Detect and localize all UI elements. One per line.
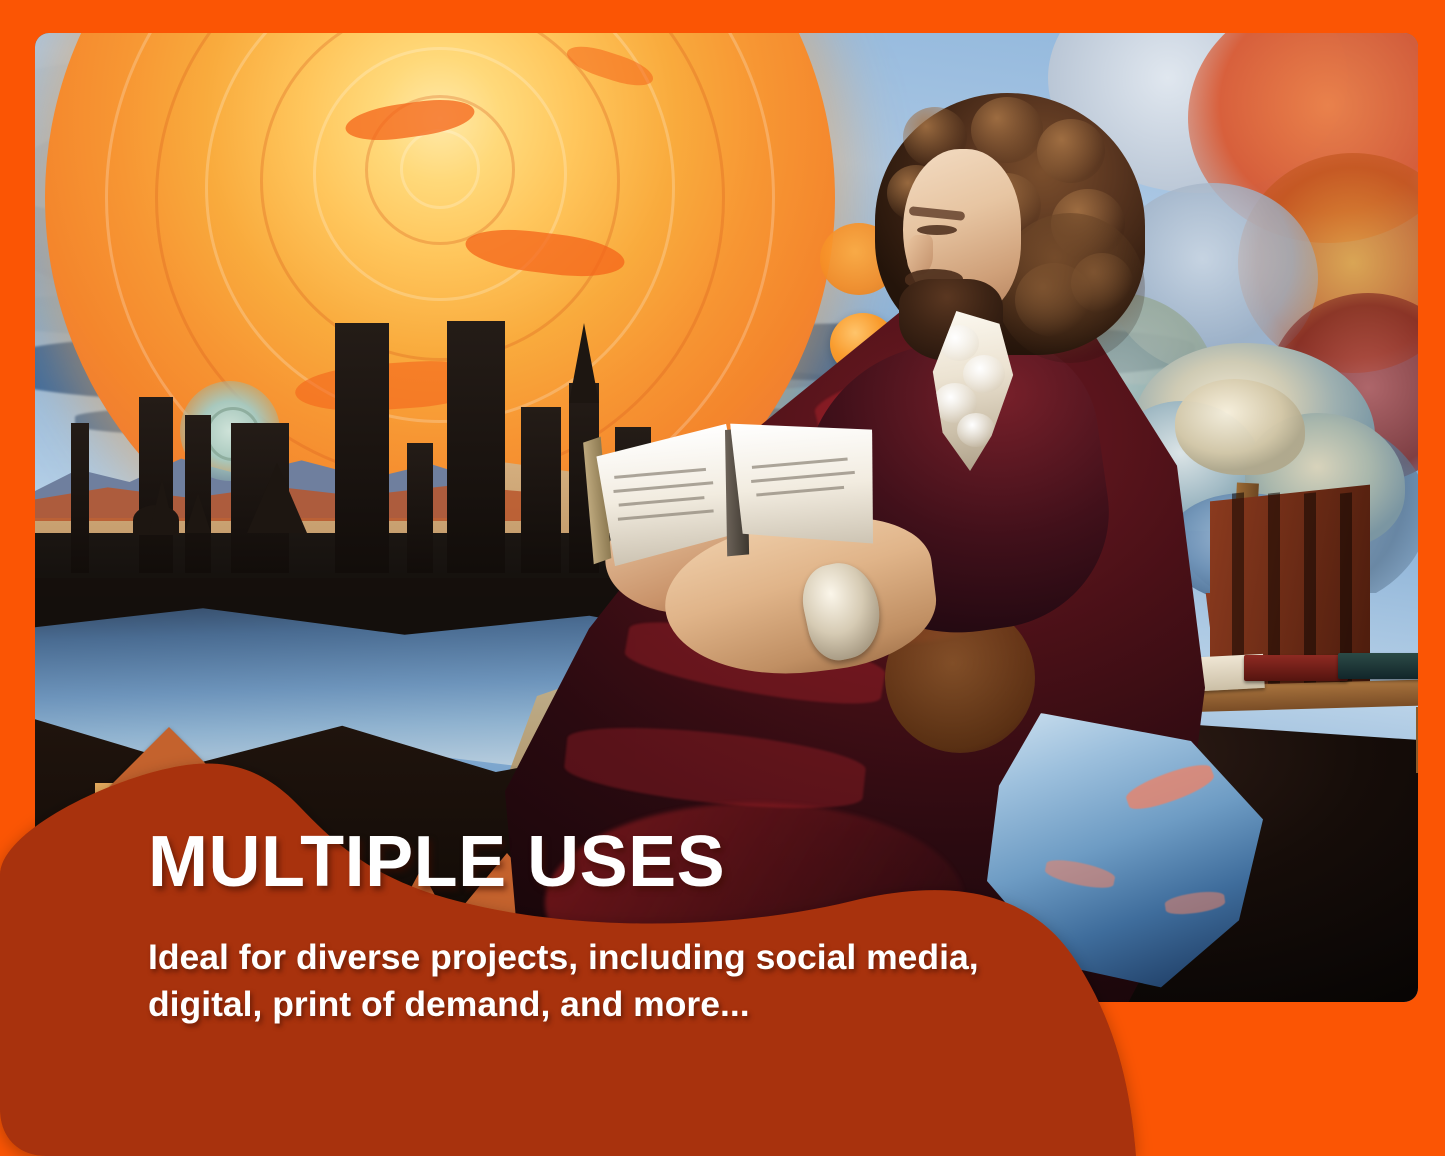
page-title: MULTIPLE USES bbox=[148, 826, 1068, 898]
eyebrow bbox=[909, 206, 966, 221]
eye bbox=[917, 225, 957, 235]
open-book bbox=[589, 411, 892, 596]
page-subtitle: Ideal for diverse projects, including so… bbox=[148, 934, 1038, 1028]
promo-card: MULTIPLE USES Ideal for diverse projects… bbox=[0, 0, 1445, 1156]
head bbox=[875, 93, 1175, 393]
caption-text-block: MULTIPLE USES Ideal for diverse projects… bbox=[148, 826, 1068, 1028]
book-green bbox=[1338, 653, 1418, 679]
face bbox=[903, 149, 1021, 317]
